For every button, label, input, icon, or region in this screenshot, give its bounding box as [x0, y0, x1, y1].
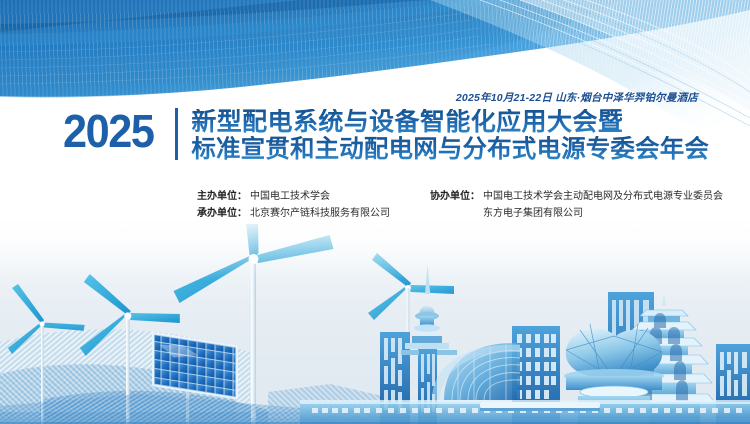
title-row: 2025 新型配电系统与设备智能化应用大会暨 标准宣贯和主动配电网与分布式电源专… — [63, 108, 709, 162]
organizer-label: 承办单位： — [197, 205, 247, 222]
organizer-value: 北京赛尔产链科技服务有限公司 — [247, 205, 390, 222]
organizer-row: 主办单位： 中国电工技术学会 — [197, 188, 390, 205]
organizer-label: 协办单位： — [430, 188, 480, 205]
title-line-2: 标准宣贯和主动配电网与分布式电源专委会年会 — [191, 136, 709, 163]
date-location: 2025年10月21-22日 山东·烟台中泽华羿铂尔曼酒店 — [456, 90, 698, 105]
city-skyline — [300, 264, 750, 424]
organizer-value: 中国电工技术学会主动配电网及分布式电源专业委员会 — [480, 188, 723, 205]
organizer-label: 主办单位： — [197, 188, 247, 205]
header-text-block: 2025年10月21-22日 山东·烟台中泽华羿铂尔曼酒店 2025 新型配电系… — [0, 0, 750, 240]
title-divider — [175, 108, 178, 160]
title-lines: 新型配电系统与设备智能化应用大会暨 标准宣贯和主动配电网与分布式电源专委会年会 — [191, 108, 709, 162]
conference-banner: 2025年10月21-22日 山东·烟台中泽华羿铂尔曼酒店 2025 新型配电系… — [0, 0, 750, 424]
organizer-value: 东方电子集团有限公司 — [480, 205, 583, 222]
illustration-scene — [0, 224, 750, 424]
organizers-right-column: 协办单位： 中国电工技术学会主动配电网及分布式电源专业委员会 协办单位： 东方电… — [430, 188, 723, 222]
title-line-1: 新型配电系统与设备智能化应用大会暨 — [191, 109, 709, 136]
year-2025: 2025 — [63, 108, 154, 154]
organizer-row: 承办单位： 北京赛尔产链科技服务有限公司 — [197, 205, 390, 222]
organizer-value: 中国电工技术学会 — [247, 188, 330, 205]
organizers-left-column: 主办单位： 中国电工技术学会 承办单位： 北京赛尔产链科技服务有限公司 — [197, 188, 390, 222]
organizer-row: 协办单位： 东方电子集团有限公司 — [430, 205, 723, 222]
organizer-row: 协办单位： 中国电工技术学会主动配电网及分布式电源专业委员会 — [430, 188, 723, 205]
